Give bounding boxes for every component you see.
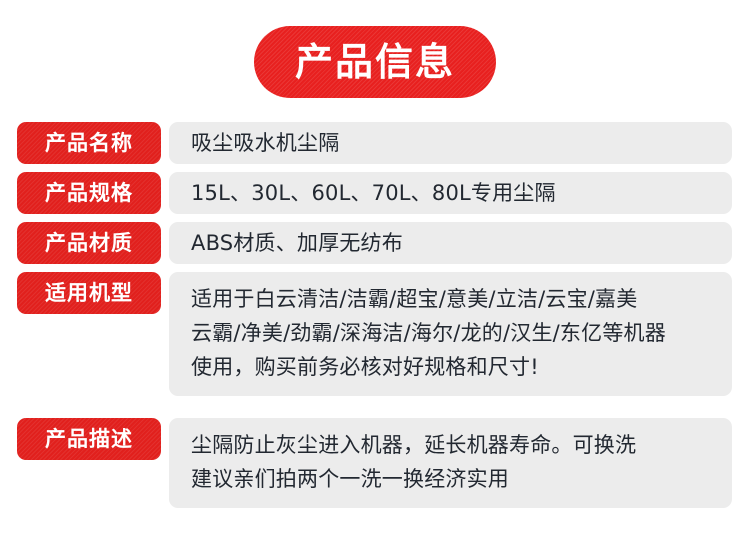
row-value-product-material: ABS材质、加厚无纺布	[169, 222, 732, 264]
row-label-text: 产品名称	[45, 133, 133, 154]
row-value-product-description: 尘隔防止灰尘进入机器，延长机器寿命。可换洗 建议亲们拍两个一洗一换经济实用	[169, 418, 732, 508]
table-row: 产品描述 尘隔防止灰尘进入机器，延长机器寿命。可换洗 建议亲们拍两个一洗一换经济…	[0, 418, 750, 508]
row-label-text: 适用机型	[45, 283, 133, 304]
value-line: 建议亲们拍两个一洗一换经济实用	[191, 462, 732, 496]
row-label-applicable-models: 适用机型	[17, 272, 161, 314]
value-line: 吸尘吸水机尘隔	[191, 128, 732, 158]
row-value-applicable-models: 适用于白云清洁/洁霸/超宝/意美/立洁/云宝/嘉美 云霸/净美/劲霸/深海洁/海…	[169, 272, 732, 396]
row-label-text: 产品描述	[45, 429, 133, 450]
row-label-product-name: 产品名称	[17, 122, 161, 164]
spec-table: 产品名称 吸尘吸水机尘隔 产品规格 15L、30L、60L、70L、80L专用尘…	[0, 122, 750, 516]
row-label-text: 产品规格	[45, 183, 133, 204]
row-label-text: 产品材质	[45, 233, 133, 254]
table-row: 适用机型 适用于白云清洁/洁霸/超宝/意美/立洁/云宝/嘉美 云霸/净美/劲霸/…	[0, 272, 750, 396]
value-line: 15L、30L、60L、70L、80L专用尘隔	[191, 178, 732, 208]
page-title-banner: 产品信息	[254, 26, 496, 98]
row-label-product-material: 产品材质	[17, 222, 161, 264]
row-label-product-spec: 产品规格	[17, 172, 161, 214]
page-title: 产品信息	[295, 43, 455, 81]
value-line: 使用，购买前务必核对好规格和尺寸!	[191, 350, 732, 384]
value-line: 适用于白云清洁/洁霸/超宝/意美/立洁/云宝/嘉美	[191, 282, 732, 316]
value-line: ABS材质、加厚无纺布	[191, 228, 732, 258]
banner-container: 产品信息	[0, 26, 750, 98]
row-value-product-name: 吸尘吸水机尘隔	[169, 122, 732, 164]
product-info-page: 产品信息 产品名称 吸尘吸水机尘隔 产品规格 15L、30L、60L、70L、8…	[0, 0, 750, 550]
row-value-product-spec: 15L、30L、60L、70L、80L专用尘隔	[169, 172, 732, 214]
table-row: 产品材质 ABS材质、加厚无纺布	[0, 222, 750, 264]
value-line: 尘隔防止灰尘进入机器，延长机器寿命。可换洗	[191, 428, 732, 462]
row-label-product-description: 产品描述	[17, 418, 161, 460]
value-line: 云霸/净美/劲霸/深海洁/海尔/龙的/汉生/东亿等机器	[191, 316, 732, 350]
table-row: 产品名称 吸尘吸水机尘隔	[0, 122, 750, 164]
table-row: 产品规格 15L、30L、60L、70L、80L专用尘隔	[0, 172, 750, 214]
